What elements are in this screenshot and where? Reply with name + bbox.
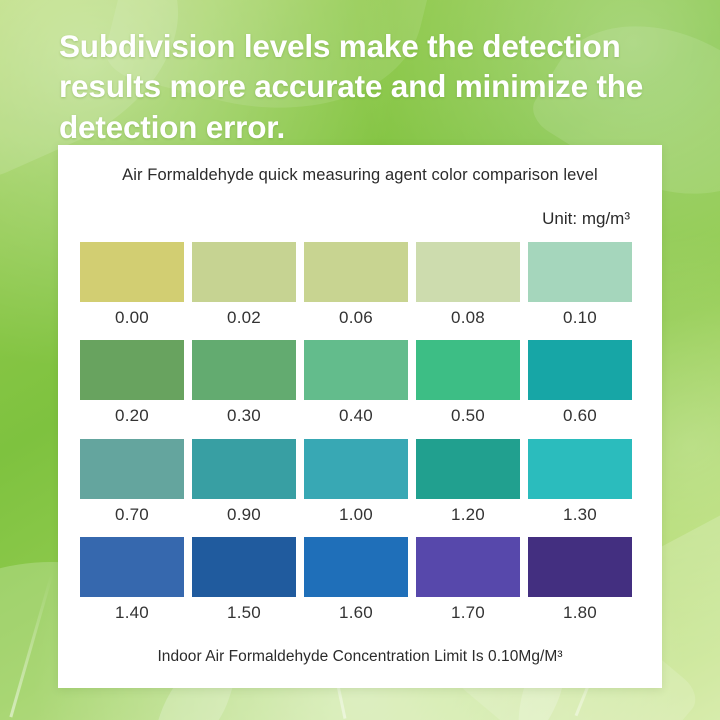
swatch-label: 0.06 <box>339 307 373 328</box>
color-swatch[interactable] <box>416 439 520 499</box>
swatch-cell[interactable]: 1.50 <box>192 537 296 623</box>
swatch-cell[interactable]: 0.60 <box>528 340 632 426</box>
swatch-label: 1.20 <box>451 504 485 525</box>
color-swatch[interactable] <box>528 439 632 499</box>
swatch-label: 0.10 <box>563 307 597 328</box>
page-root: Subdivision levels make the detection re… <box>0 0 720 720</box>
swatch-cell[interactable]: 0.30 <box>192 340 296 426</box>
color-swatch[interactable] <box>80 242 184 302</box>
color-swatch[interactable] <box>304 242 408 302</box>
color-swatch[interactable] <box>416 242 520 302</box>
swatch-label: 0.60 <box>563 405 597 426</box>
color-swatch[interactable] <box>192 439 296 499</box>
color-swatch[interactable] <box>528 340 632 400</box>
color-swatch[interactable] <box>304 340 408 400</box>
color-swatch[interactable] <box>80 537 184 597</box>
swatch-cell[interactable]: 1.20 <box>416 439 520 525</box>
swatch-label: 0.08 <box>451 307 485 328</box>
swatch-label: 0.90 <box>227 504 261 525</box>
card-footer-note: Indoor Air Formaldehyde Concentration Li… <box>58 648 662 666</box>
swatch-cell[interactable]: 0.50 <box>416 340 520 426</box>
card-title: Air Formaldehyde quick measuring agent c… <box>58 166 662 185</box>
swatch-label: 1.80 <box>563 602 597 623</box>
swatch-cell[interactable]: 1.40 <box>80 537 184 623</box>
swatch-row: 1.401.501.601.701.80 <box>80 537 640 623</box>
swatch-row: 0.700.901.001.201.30 <box>80 439 640 525</box>
swatch-cell[interactable]: 0.40 <box>304 340 408 426</box>
color-swatch[interactable] <box>416 537 520 597</box>
color-swatch[interactable] <box>192 242 296 302</box>
swatch-label: 1.70 <box>451 602 485 623</box>
swatch-cell[interactable]: 0.70 <box>80 439 184 525</box>
color-swatch[interactable] <box>192 340 296 400</box>
swatch-cell[interactable]: 0.10 <box>528 242 632 328</box>
color-swatch[interactable] <box>416 340 520 400</box>
swatch-label: 0.70 <box>115 504 149 525</box>
color-comparison-card: Air Formaldehyde quick measuring agent c… <box>58 145 662 688</box>
color-swatch[interactable] <box>192 537 296 597</box>
swatch-cell[interactable]: 1.80 <box>528 537 632 623</box>
swatch-label: 0.30 <box>227 405 261 426</box>
swatch-cell[interactable]: 1.70 <box>416 537 520 623</box>
color-swatch[interactable] <box>528 537 632 597</box>
swatch-row: 0.200.300.400.500.60 <box>80 340 640 426</box>
swatch-row: 0.000.020.060.080.10 <box>80 242 640 328</box>
color-swatch[interactable] <box>528 242 632 302</box>
swatch-cell[interactable]: 1.30 <box>528 439 632 525</box>
color-swatch[interactable] <box>304 537 408 597</box>
leaf-vein-icon <box>9 572 53 717</box>
swatch-cell[interactable]: 0.20 <box>80 340 184 426</box>
swatch-cell[interactable]: 1.00 <box>304 439 408 525</box>
color-swatch[interactable] <box>80 439 184 499</box>
color-swatch[interactable] <box>304 439 408 499</box>
swatch-label: 1.00 <box>339 504 373 525</box>
swatch-label: 0.02 <box>227 307 261 328</box>
swatch-label: 1.30 <box>563 504 597 525</box>
swatch-cell[interactable]: 1.60 <box>304 537 408 623</box>
color-swatch-grid: 0.000.020.060.080.100.200.300.400.500.60… <box>80 242 640 623</box>
swatch-cell[interactable]: 0.90 <box>192 439 296 525</box>
swatch-cell[interactable]: 0.02 <box>192 242 296 328</box>
swatch-label: 1.50 <box>227 602 261 623</box>
swatch-label: 0.00 <box>115 307 149 328</box>
swatch-label: 0.50 <box>451 405 485 426</box>
swatch-cell[interactable]: 0.08 <box>416 242 520 328</box>
swatch-label: 0.40 <box>339 405 373 426</box>
headline-text: Subdivision levels make the detection re… <box>59 26 671 147</box>
unit-label: Unit: mg/m³ <box>542 209 630 229</box>
swatch-label: 1.60 <box>339 602 373 623</box>
color-swatch[interactable] <box>80 340 184 400</box>
swatch-label: 1.40 <box>115 602 149 623</box>
swatch-label: 0.20 <box>115 405 149 426</box>
swatch-cell[interactable]: 0.00 <box>80 242 184 328</box>
swatch-cell[interactable]: 0.06 <box>304 242 408 328</box>
